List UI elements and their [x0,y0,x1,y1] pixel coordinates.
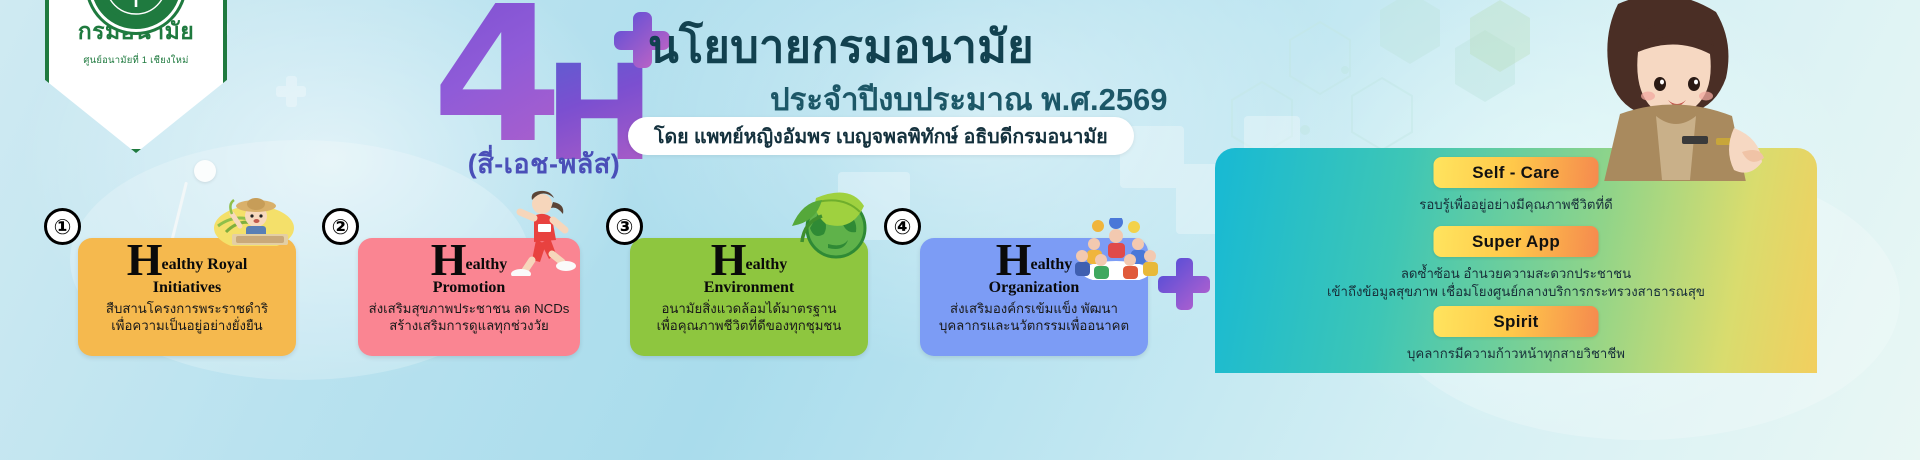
super-app-button[interactable]: Super App [1434,226,1599,257]
spirit-button[interactable]: Spirit [1434,306,1599,337]
card-number-badge: ① [44,208,81,245]
wordmark-pronunciation: (สี่-เอช-พลัส) [434,142,654,185]
spirit-description: บุคลากรมีความก้าวหน้าทุกสายวิชาชีพ [1215,345,1817,363]
card-number-badge: ③ [606,208,643,245]
ministry-logo-shield: กรมอนามัย ศูนย์อนามัยที่ 1 เชียงใหม่ [45,0,227,153]
card-description: ส่งเสริมองค์กรเข้มแข็ง พัฒนา บุคลากรและน… [939,300,1129,335]
decorative-pin-dot [194,160,216,182]
plus-separator-icon [1158,258,1210,310]
card-description: สืบสานโครงการพระราชดำริ เพื่อความเป็นอยู… [106,300,268,335]
self-care-description: รอบรู้เพื่ออยู่อย่างมีคุณภาพชีวิตที่ดี [1215,196,1817,214]
card-title: Healthy Environment [704,242,794,296]
decorative-pin-line [170,182,188,243]
strategy-card-healthy-environment[interactable]: Healthy Environment อนามัยสิ่งแวดล้อมได้… [630,238,868,356]
initiatives-panel: Self - Care รอบรู้เพื่ออยู่อย่างมีคุณภาพ… [1215,148,1817,373]
farmer-child-icon [196,186,300,246]
nurse-character [1560,0,1790,181]
card-number-badge: ④ [884,208,921,245]
card-description: ส่งเสริมสุขภาพประชาชน ลด NCDs สร้างเสริม… [369,300,570,335]
strategy-card-healthy-organization[interactable]: Healthy Organization ส่งเสริมองค์กรเข้มแ… [920,238,1148,356]
card-number-badge: ② [322,208,359,245]
card-description: อนามัยสิ่งแวดล้อมได้มาตรฐาน เพื่อคุณภาพช… [657,300,842,335]
health-center-name: ศูนย์อนามัยที่ 1 เชียงใหม่ [83,53,188,68]
4h-plus-wordmark: 4 H (สี่-เอช-พลัส) [432,0,652,196]
card-title: Healthy Royal Initiatives [127,242,248,296]
page-title: นโยบายกรมอนามัย [648,10,1034,82]
card-title: Healthy Organization [989,242,1080,296]
card-title: Healthy Promotion [431,242,508,296]
strategy-card-healthy-promotion[interactable]: Healthy Promotion ส่งเสริมสุขภาพประชาชน … [358,238,580,356]
super-app-description: ลดซ้ำซ้อน อำนวยความสะดวกประชาชน เข้าถึงข… [1215,265,1817,301]
speaker-badge: โดย แพทย์หญิงอัมพร เบญจพลพิทักษ์ อธิบดีก… [628,117,1134,155]
strategy-card-healthy-royal-initiatives[interactable]: Healthy Royal Initiatives สืบสานโครงการพ… [78,238,296,356]
